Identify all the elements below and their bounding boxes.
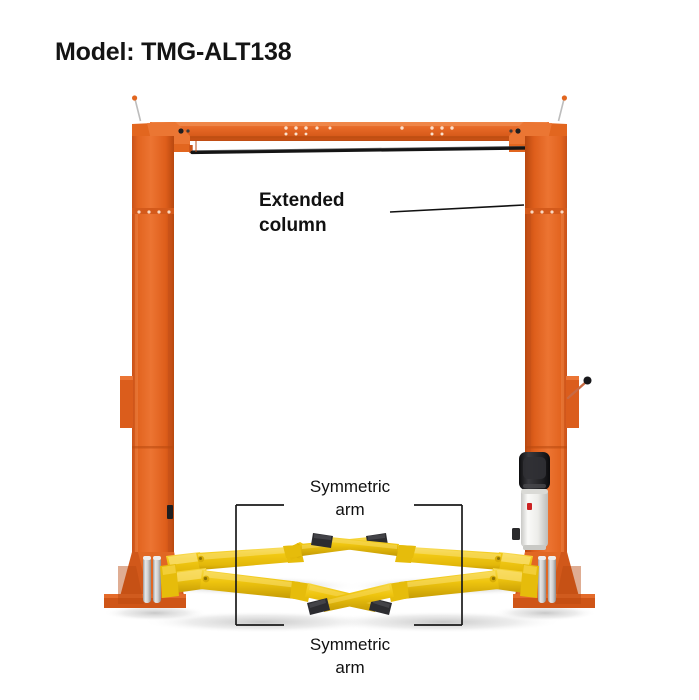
overhead-crossbeam	[132, 95, 567, 152]
equalizer-cable	[191, 140, 538, 153]
screenshot-root: Model: TMG-ALT138	[0, 0, 699, 700]
left-column	[104, 136, 186, 608]
hydraulic-power-unit	[512, 452, 550, 550]
left-top-rod	[132, 95, 141, 121]
callout-symmetric-arm-top: Symmetric arm	[283, 476, 417, 522]
extended-column-leader-line	[390, 205, 524, 212]
callout-extended-column: Extended column	[259, 188, 345, 238]
right-column	[512, 136, 595, 608]
callout-symmetric-arm-bottom: Symmetric arm	[283, 634, 417, 680]
car-lift-illustration	[0, 0, 699, 700]
right-top-rod	[559, 95, 568, 121]
